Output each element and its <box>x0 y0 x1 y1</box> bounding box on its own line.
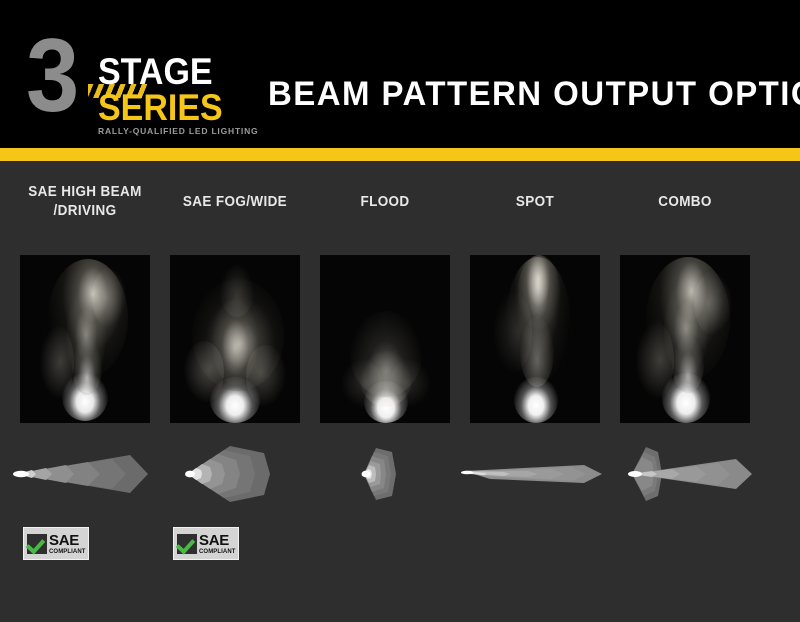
pattern-columns: SAE HIGH BEAM /DRIVING <box>0 161 800 622</box>
column-label-line1: COMBO <box>615 193 755 212</box>
logo-word-series: SERIES <box>98 90 223 127</box>
brand-logo: 3 STAGE SERIES RALLY-QUALIFIED LED LIGHT… <box>26 28 244 132</box>
beam-photo-combo <box>620 255 750 423</box>
sae-badge-subtitle: COMPLIANT <box>199 549 236 555</box>
column-label-line1: SPOT <box>465 193 605 212</box>
beam-diagram-flood <box>310 443 460 505</box>
sae-compliant-badge: SAE COMPLIANT <box>173 527 239 560</box>
logo-word-stage: STAGE <box>98 54 213 91</box>
column-label-line1: FLOOD <box>315 193 455 212</box>
column-label: FLOOD <box>315 193 455 212</box>
beam-photo-sae-high-beam-driving <box>20 255 150 423</box>
beam-pattern-infographic: 3 STAGE SERIES RALLY-QUALIFIED LED LIGHT… <box>0 0 800 622</box>
checkmark-icon <box>27 534 47 554</box>
pattern-column-flood: FLOOD <box>310 161 460 622</box>
sae-badge-subtitle: COMPLIANT <box>49 549 86 555</box>
beam-photo-flood <box>320 255 450 423</box>
logo-numeral: 3 <box>26 24 74 128</box>
pattern-column-sae-high-beam-driving: SAE HIGH BEAM /DRIVING <box>10 161 160 622</box>
pattern-column-spot: SPOT <box>460 161 610 622</box>
beam-diagram-combo <box>610 443 760 505</box>
sae-badge-title: SAE <box>49 533 86 548</box>
column-label-line1: SAE HIGH BEAM <box>15 183 155 202</box>
beam-diagram-sae-fog-wide <box>160 443 310 505</box>
beam-diagram-spot <box>460 443 610 505</box>
sae-badge-title: SAE <box>199 533 236 548</box>
column-label: COMBO <box>615 193 755 212</box>
column-label: SAE HIGH BEAM /DRIVING <box>15 183 155 221</box>
header-bar: 3 STAGE SERIES RALLY-QUALIFIED LED LIGHT… <box>0 0 800 148</box>
sae-compliant-badge: SAE COMPLIANT <box>23 527 89 560</box>
pattern-column-combo: COMBO <box>610 161 760 622</box>
yellow-divider <box>0 148 800 161</box>
column-label: SPOT <box>465 193 605 212</box>
beam-photo-spot <box>470 255 600 423</box>
column-label-line2: /DRIVING <box>15 202 155 221</box>
logo-tagline: RALLY-QUALIFIED LED LIGHTING <box>98 127 258 136</box>
beam-photo-sae-fog-wide <box>170 255 300 423</box>
column-label: SAE FOG/WIDE <box>165 193 305 212</box>
checkmark-icon <box>177 534 197 554</box>
page-title: BEAM PATTERN OUTPUT OPTIONS <box>268 76 800 112</box>
column-label-line1: SAE FOG/WIDE <box>165 193 305 212</box>
beam-diagram-sae-high-beam-driving <box>10 443 160 505</box>
pattern-column-sae-fog-wide: SAE FOG/WIDE <box>160 161 310 622</box>
